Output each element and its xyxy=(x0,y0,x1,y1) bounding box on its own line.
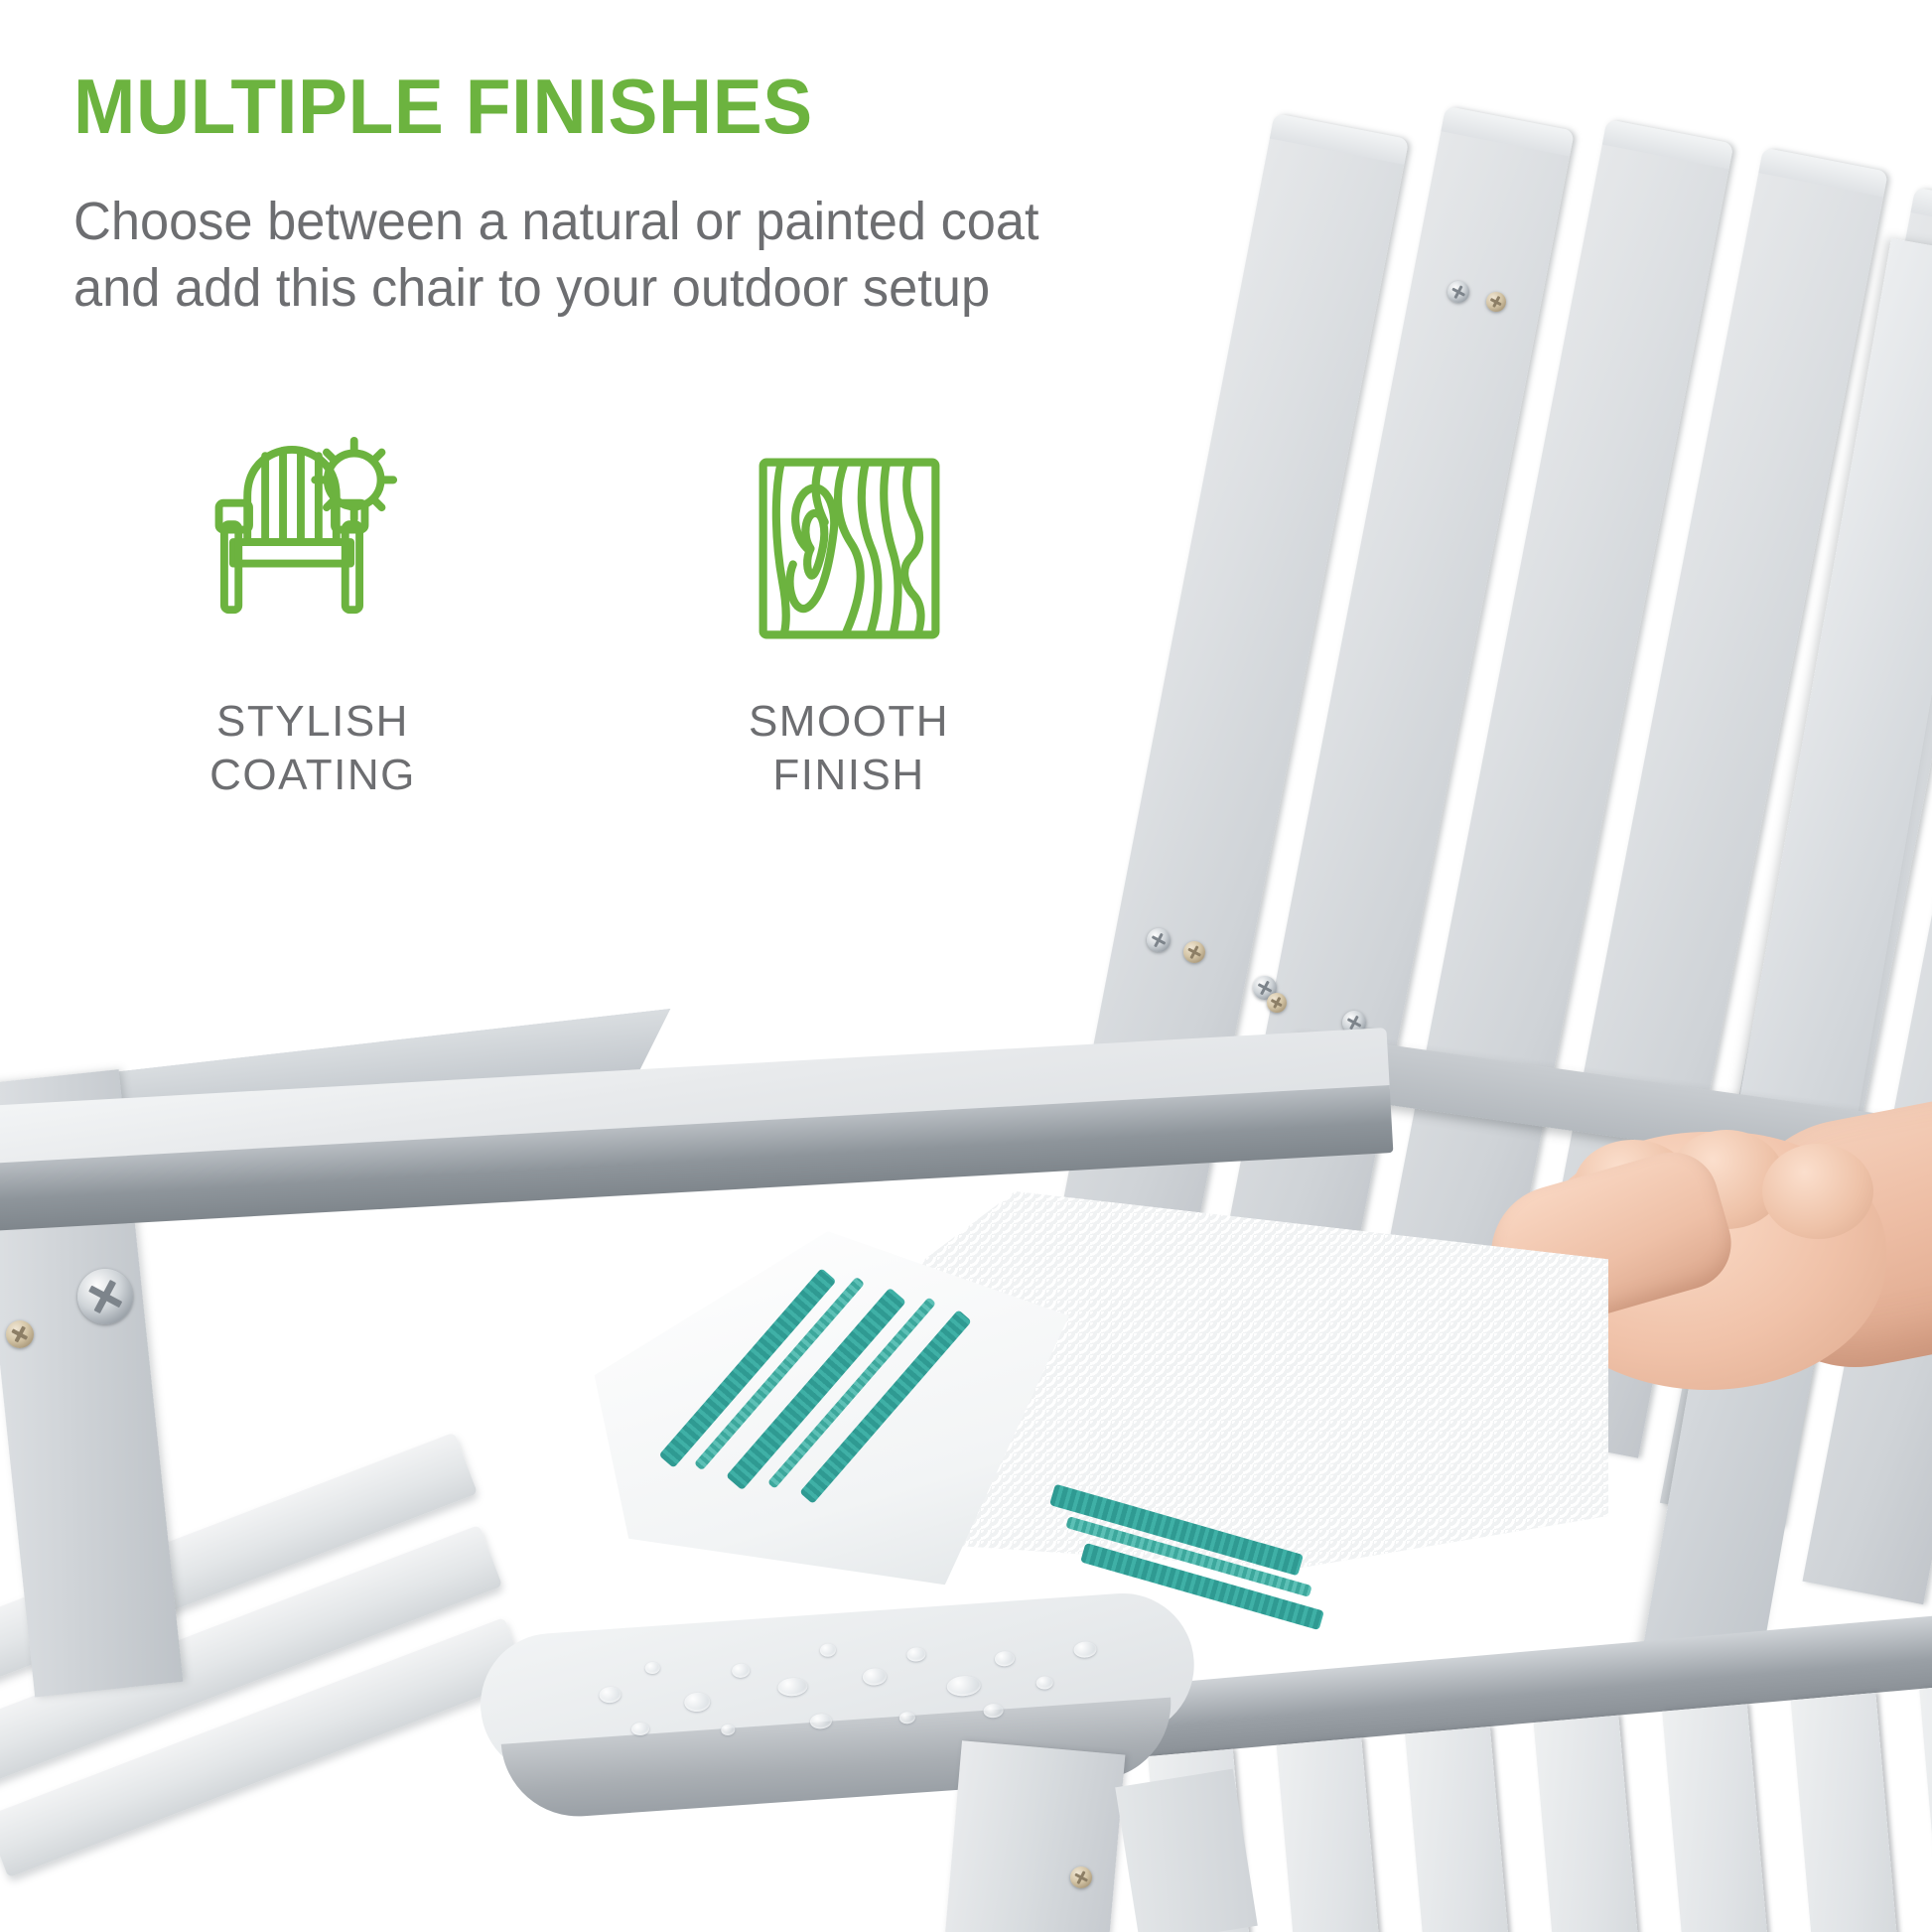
feature-label-line-1: SMOOTH xyxy=(749,695,949,749)
feature-label: SMOOTH FINISH xyxy=(749,695,949,801)
feature-list: STYLISH COATING xyxy=(149,417,1013,801)
page-title: MULTIPLE FINISHES xyxy=(73,62,813,152)
overlay-content: MULTIPLE FINISHES Choose between a natur… xyxy=(0,0,1932,1932)
subtitle-line-1: Choose between a natural or painted coat xyxy=(73,189,1210,255)
marketing-image: MULTIPLE FINISHES Choose between a natur… xyxy=(0,0,1932,1932)
adirondack-chair-sun-icon xyxy=(207,417,420,645)
feature-label-line-2: COATING xyxy=(209,749,416,802)
subtitle-line-2: and add this chair to your outdoor setup xyxy=(73,255,1210,322)
wood-grain-square-icon xyxy=(753,417,946,645)
feature-label: STYLISH COATING xyxy=(209,695,416,801)
feature-label-line-2: FINISH xyxy=(749,749,949,802)
feature-stylish-coating: STYLISH COATING xyxy=(149,417,477,801)
feature-smooth-finish: SMOOTH FINISH xyxy=(685,417,1013,801)
subtitle: Choose between a natural or painted coat… xyxy=(73,189,1210,322)
feature-label-line-1: STYLISH xyxy=(209,695,416,749)
